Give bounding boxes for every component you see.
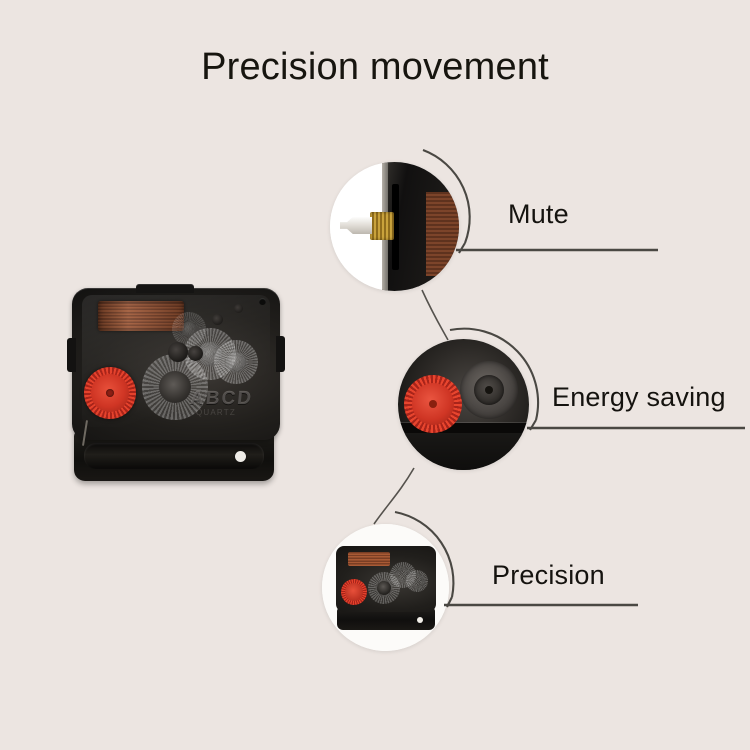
mini-base-dot: [417, 617, 423, 623]
drive-gear-closeup: [460, 361, 518, 419]
product-infographic: Precision movement ABCD QUARTZ: [0, 0, 750, 750]
shaft-copper-coil: [426, 192, 459, 276]
callout-label-precision: Precision: [492, 560, 605, 591]
callout-label-energy-saving: Energy saving: [552, 382, 726, 413]
movement-base-dot: [235, 451, 246, 462]
red-gear: [84, 367, 136, 419]
callout-label-mute: Mute: [508, 199, 569, 230]
callout-circle-energy-saving: [398, 339, 529, 470]
housing-top-tab: [136, 284, 194, 293]
gear-small: [214, 340, 258, 384]
page-title: Precision movement: [0, 46, 750, 89]
callout-circle-mute: [330, 162, 459, 291]
movement-housing: ABCD QUARTZ: [72, 288, 280, 440]
mini-copper-coil: [348, 552, 390, 566]
housing-lower: [398, 433, 529, 470]
mini-red-gear: [341, 579, 367, 605]
housing-right-clip: [276, 336, 285, 372]
housing-marking-sub: QUARTZ: [196, 408, 236, 417]
connector-mute-to-energy: [422, 290, 448, 340]
movement-miniature: [336, 546, 436, 630]
pivot-b: [188, 346, 203, 361]
pivot-d: [234, 304, 243, 313]
screw-hole: [259, 298, 266, 305]
red-gear-closeup: [404, 375, 462, 433]
mini-gear-3: [406, 570, 428, 592]
brass-threaded-shaft: [370, 212, 394, 240]
housing-marking: ABCD: [189, 388, 254, 410]
main-product-image: ABCD QUARTZ: [72, 288, 280, 488]
connector-energy-to-precision: [374, 468, 414, 524]
mini-housing: [336, 546, 436, 612]
mini-hub: [377, 581, 391, 595]
housing-left-clip: [67, 338, 76, 372]
callout-circle-precision: [322, 524, 449, 651]
pivot-a: [168, 342, 188, 362]
pivot-c: [212, 314, 223, 325]
